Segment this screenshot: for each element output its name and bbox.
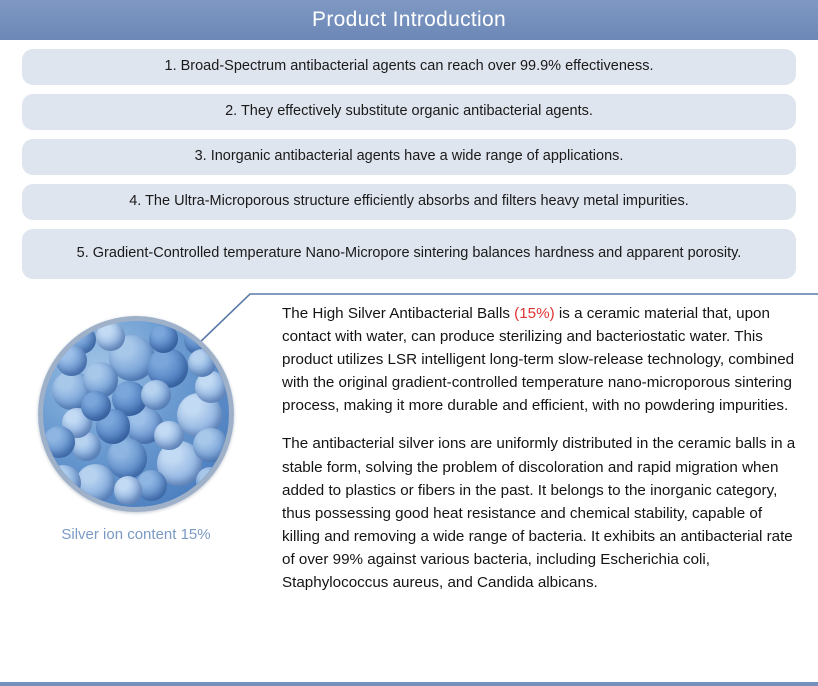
ceramic-ball <box>141 380 172 411</box>
description-paragraph-2: The antibacterial silver ions are unifor… <box>282 432 796 594</box>
feature-item-4: 4. The Ultra-Microporous structure effic… <box>22 184 796 220</box>
feature-item-2: 2. They effectively substitute organic a… <box>22 94 796 130</box>
ceramic-ball <box>196 467 225 496</box>
ceramic-ball <box>193 428 227 462</box>
feature-item-3-text: 3. Inorganic antibacterial agents have a… <box>195 146 624 167</box>
bottom-accent-bar <box>0 682 818 686</box>
ceramic-ball <box>45 465 81 501</box>
feature-list: 1. Broad-Spectrum antibacterial agents c… <box>0 40 818 279</box>
product-image-column: Silver ion content 15% <box>0 288 272 594</box>
product-description-column: The High Silver Antibacterial Balls (15%… <box>272 288 796 594</box>
ceramic-balls-graphic <box>43 321 229 507</box>
description-paragraph-1: The High Silver Antibacterial Balls (15%… <box>282 302 796 417</box>
ceramic-ball <box>188 349 217 378</box>
page-header: Product Introduction <box>0 0 818 40</box>
feature-item-2-text: 2. They effectively substitute organic a… <box>225 101 593 122</box>
feature-item-3: 3. Inorganic antibacterial agents have a… <box>22 139 796 175</box>
ceramic-ball <box>56 345 87 376</box>
product-image-circle <box>38 316 234 512</box>
feature-item-1: 1. Broad-Spectrum antibacterial agents c… <box>22 49 796 85</box>
ceramic-ball <box>96 322 124 350</box>
product-detail-section: Silver ion content 15% The High Silver A… <box>0 288 818 594</box>
product-image-caption: Silver ion content 15% <box>0 526 272 543</box>
ceramic-ball <box>43 426 75 458</box>
ceramic-ball <box>76 464 115 503</box>
description-p1-lead: The High Silver Antibacterial Balls <box>282 305 514 322</box>
ceramic-ball <box>114 476 143 505</box>
feature-item-5: 5. Gradient-Controlled temperature Nano-… <box>22 229 796 279</box>
feature-item-5-text: 5. Gradient-Controlled temperature Nano-… <box>77 243 742 264</box>
feature-item-1-text: 1. Broad-Spectrum antibacterial agents c… <box>165 56 654 77</box>
feature-item-4-text: 4. The Ultra-Microporous structure effic… <box>129 191 689 212</box>
page-title: Product Introduction <box>312 8 506 32</box>
silver-content-highlight: (15%) <box>514 305 555 322</box>
